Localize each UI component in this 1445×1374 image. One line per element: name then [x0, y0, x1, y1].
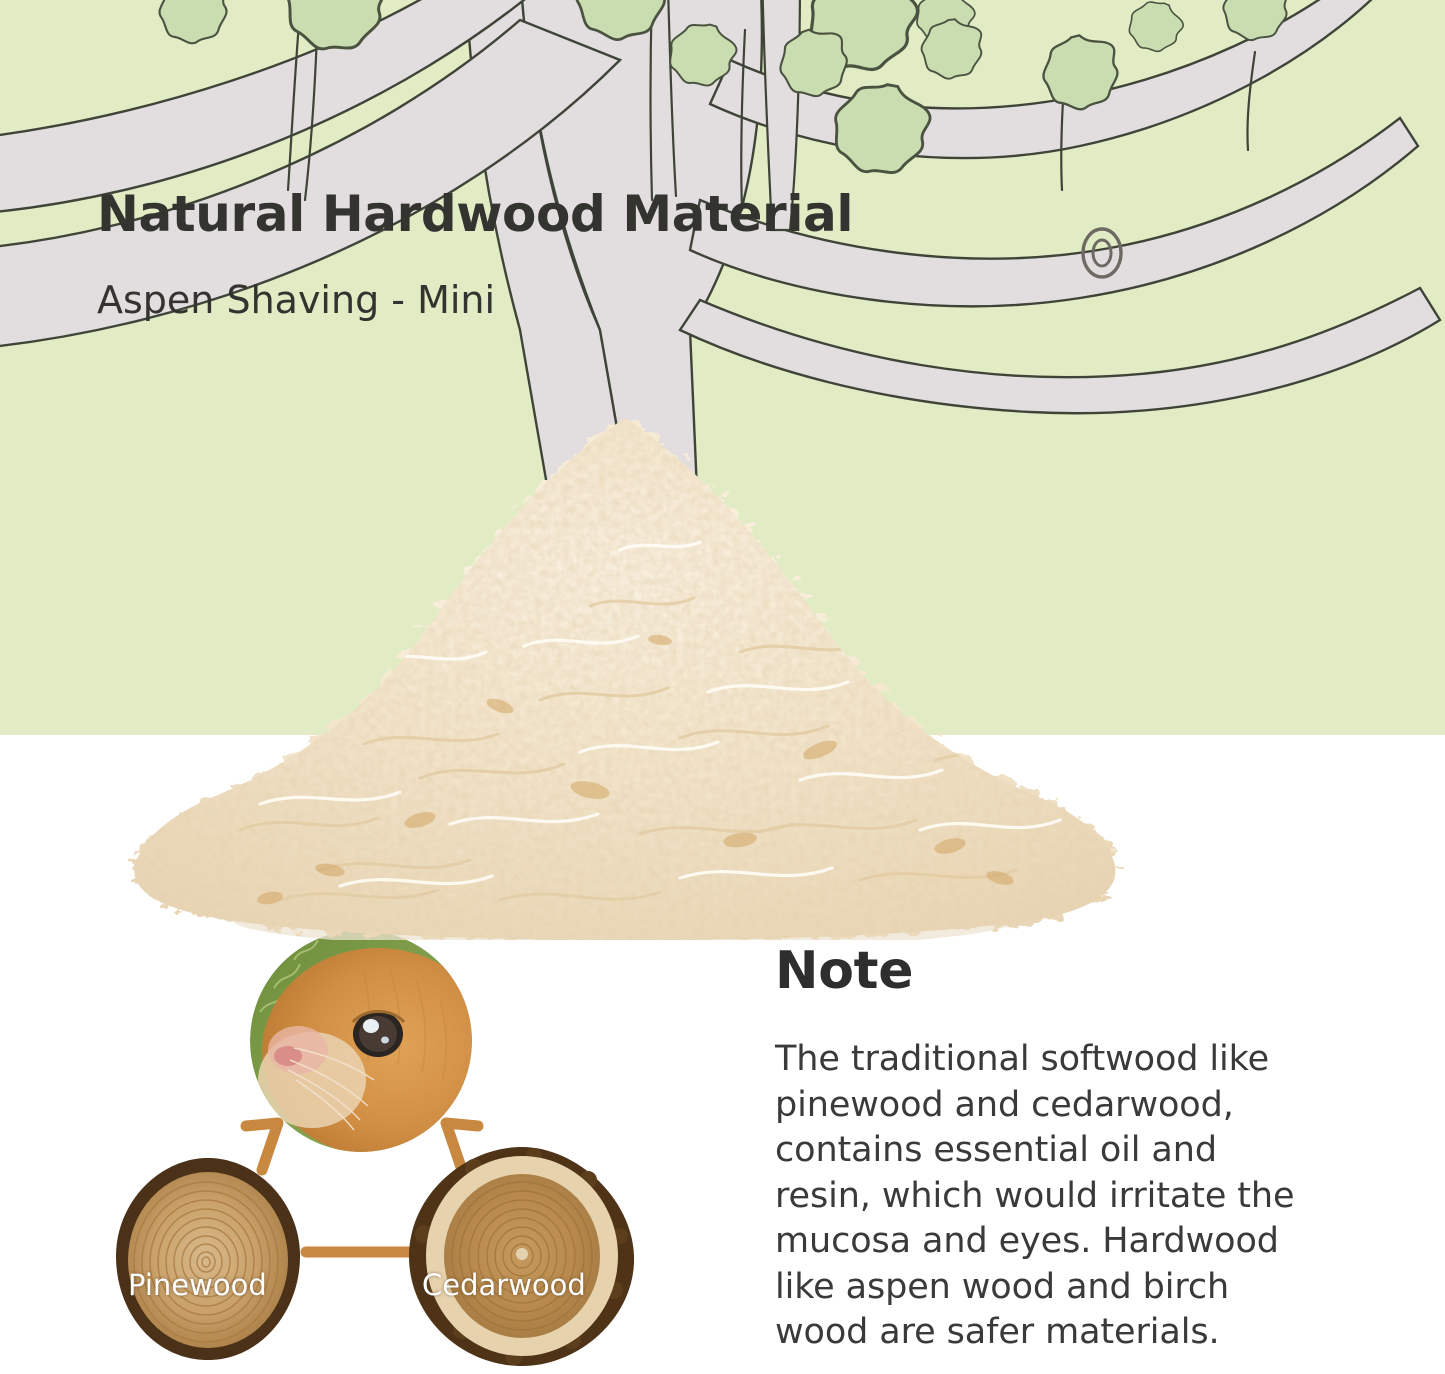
note-heading: Note [775, 945, 1310, 997]
page-title: Natural Hardwood Material [97, 188, 853, 241]
product-image-shavings-pile [120, 400, 1130, 940]
cedarwood-log-cross-section [406, 1144, 638, 1370]
pile-texture [120, 400, 1130, 940]
wood-comparison-diagram: Pinewood [110, 930, 650, 1370]
page-subtitle: Aspen Shaving - Mini [97, 281, 853, 321]
note-body-text: The traditional softwood like pinewood a… [775, 1037, 1310, 1356]
pinewood-log-cross-section [110, 1152, 306, 1370]
hamster-face-photo [250, 930, 472, 1152]
hero-title-block: Natural Hardwood Material Aspen Shaving … [97, 188, 853, 320]
shavings-pile-graphic [120, 400, 1130, 940]
note-section: Note The traditional softwood like pinew… [775, 945, 1310, 1356]
cedarwood-label: Cedarwood [422, 1268, 586, 1302]
pinewood-label: Pinewood [128, 1268, 267, 1302]
